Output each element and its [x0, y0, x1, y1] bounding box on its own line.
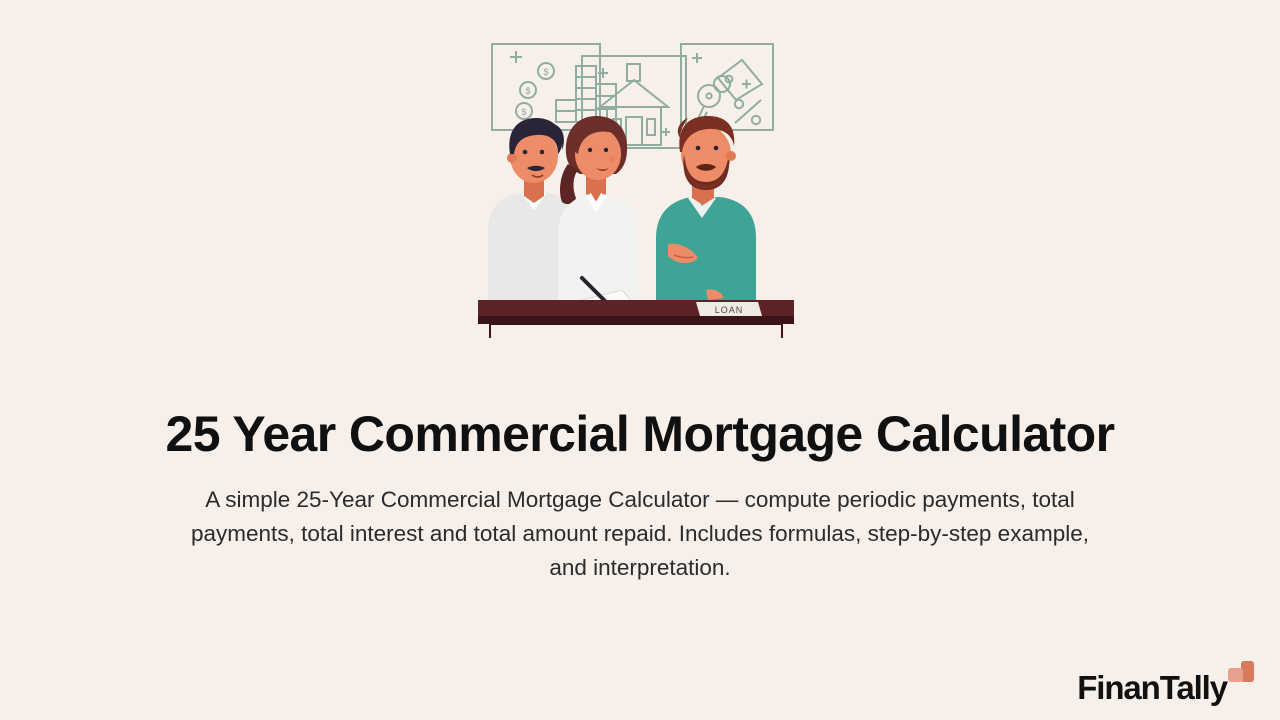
- loan-plaque: LOAN: [696, 302, 762, 316]
- svg-text:$: $: [543, 67, 548, 77]
- person-right-bearded-man: [656, 116, 756, 300]
- people-and-desk-group: LOAN: [478, 116, 794, 338]
- bar-stack-1: [556, 100, 576, 122]
- page-subtitle: A simple 25-Year Commercial Mortgage Cal…: [190, 483, 1090, 586]
- desk: LOAN: [478, 300, 794, 338]
- logo-bar-front: [1228, 668, 1243, 682]
- hero-illustration: $ $ $: [470, 28, 810, 338]
- svg-text:$: $: [521, 107, 526, 117]
- page-title: 25 Year Commercial Mortgage Calculator: [0, 406, 1280, 462]
- svg-text:$: $: [525, 86, 530, 96]
- page-root: $ $ $: [0, 0, 1280, 720]
- keys-percent-panel: [681, 44, 773, 130]
- person-center-woman: [558, 116, 638, 300]
- svg-text:LOAN: LOAN: [715, 305, 744, 315]
- bar-chart-logo-mark: [1228, 661, 1254, 691]
- logo-wordmark: FinanTally: [1077, 671, 1227, 704]
- finantally-logo[interactable]: FinanTally: [1077, 658, 1254, 704]
- bar-stack-2: [576, 66, 596, 122]
